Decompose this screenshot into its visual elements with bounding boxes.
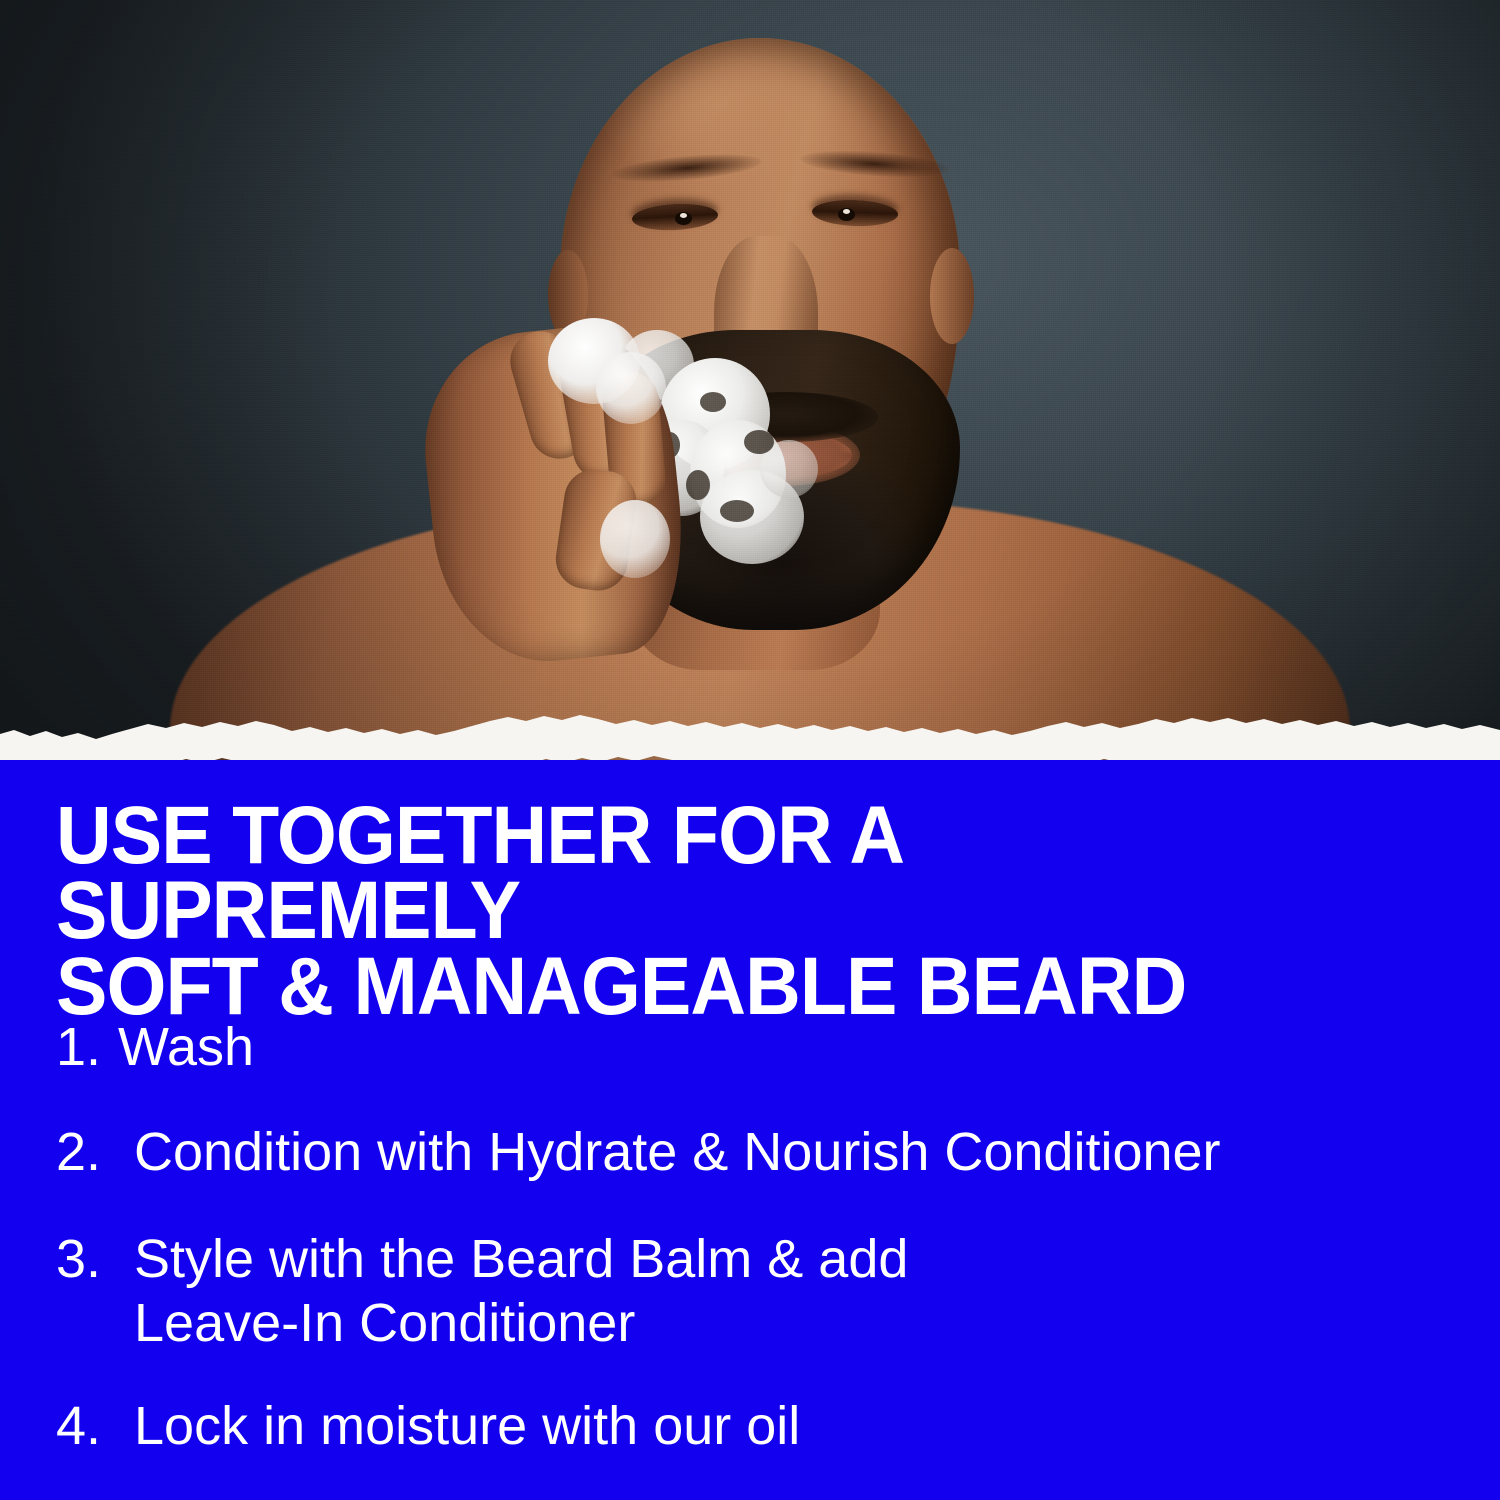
photo-grain [0,0,1500,765]
spacer [56,1355,1476,1395]
list-item: 2. Condition with Hydrate & Nourish Cond… [56,1121,1476,1184]
promo-banner: USE TOGETHER FOR A SUPREMELY SOFT & MANA… [0,0,1500,1500]
hero-photo [0,0,1500,765]
list-item: 3. Style with the Beard Balm & add Leave… [56,1228,1476,1354]
list-item: 1. Wash [56,1016,1476,1079]
step-label: Lock in moisture with our oil [134,1395,1476,1458]
spacer [56,1079,1476,1121]
page-title: USE TOGETHER FOR A SUPREMELY SOFT & MANA… [56,798,1381,1024]
step-label: Wash [118,1016,1476,1079]
list-item: 4. Lock in moisture with our oil [56,1395,1476,1458]
steps-list: 1. Wash 2. Condition with Hydrate & Nour… [56,1016,1476,1458]
step-label: Style with the Beard Balm & add Leave-In… [134,1228,1476,1354]
spacer [56,1184,1476,1228]
step-label: Condition with Hydrate & Nourish Conditi… [134,1121,1476,1184]
step-number: 2. [56,1121,134,1184]
step-number: 3. [56,1228,134,1291]
step-number: 4. [56,1395,134,1458]
step-number: 1. [56,1016,118,1079]
